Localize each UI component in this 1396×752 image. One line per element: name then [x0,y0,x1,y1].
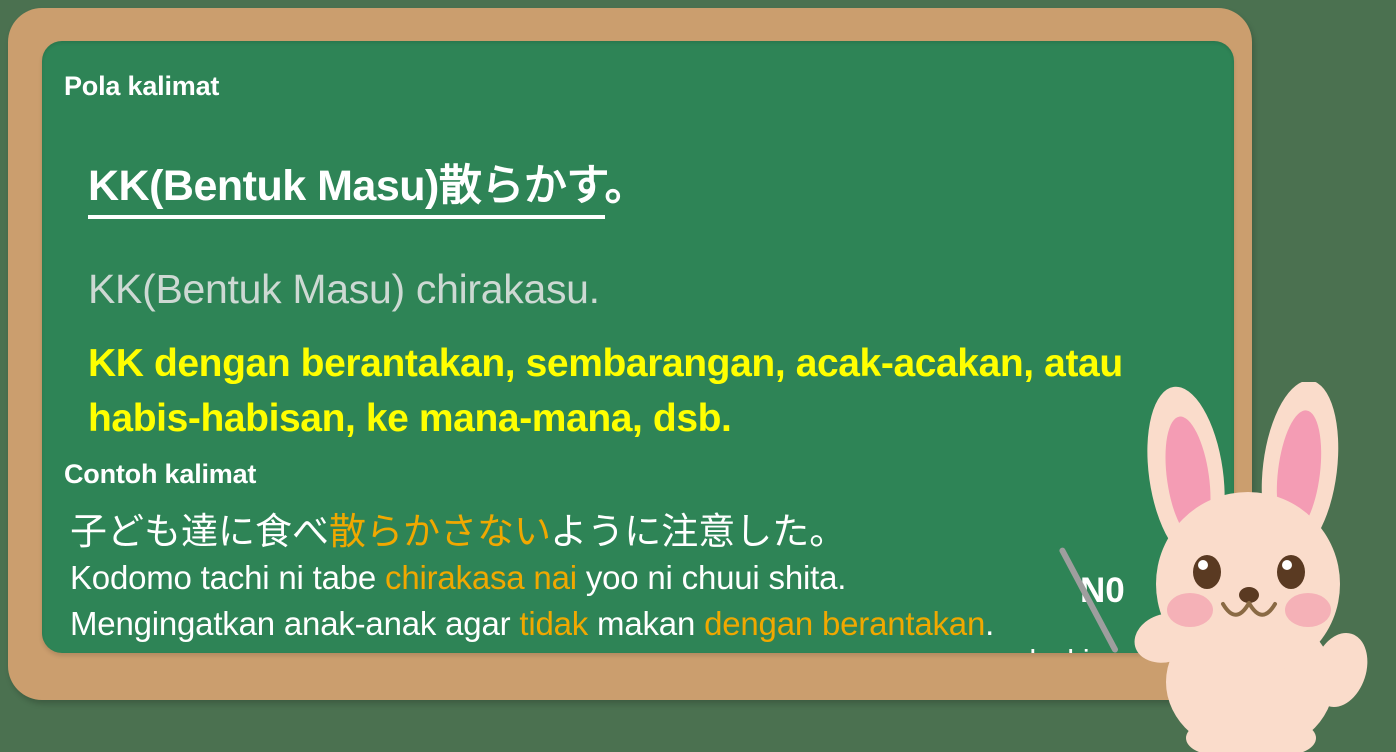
example-jp-highlight: 散らかさない [329,511,550,552]
pattern-romaji-text: KK(Bentuk Masu) chirakasu. [88,266,600,313]
example-section-label: Contoh kalimat [64,459,256,490]
example-japanese-sentence: 子ども達に食べ散らかさないように注意した。 [70,501,846,555]
blackboard-surface: Pola kalimat KK(Bentuk Masu)散らかす。 KK(Ben… [42,41,1234,653]
example-romaji-before: Kodomo tachi ni tabe [70,559,385,596]
pattern-main-text: KK(Bentuk Masu)散らかす。 [88,151,647,213]
pattern-main-underlined: KK(Bentuk Masu)散らかす [88,162,605,219]
pattern-section-label: Pola kalimat [64,71,219,102]
example-id-highlight1: tidak [519,605,588,642]
example-indonesian-sentence: Mengingatkan anak-anak agar tidak makan … [70,605,994,643]
example-id-part1: Mengingatkan anak-anak agar [70,605,519,642]
rabbit-mascot-icon [1108,382,1396,752]
example-romaji-sentence: Kodomo tachi ni tabe chirakasa nai yoo n… [70,559,846,597]
pattern-meaning-text: KK dengan berantakan, sembarangan, acak-… [88,336,1223,447]
example-romaji-after: yoo ni chuui shita. [577,559,846,596]
example-id-part2: makan [588,605,704,642]
example-jp-after: ように注意した。 [550,511,846,552]
example-jp-before: 子ども達に食べ [70,511,329,552]
pattern-main-tail: 。 [605,162,648,210]
example-id-part3: . [985,605,994,642]
example-romaji-highlight: chirakasa nai [385,559,577,596]
blackboard-frame: Pola kalimat KK(Bentuk Masu)散らかす。 KK(Ben… [8,8,1252,700]
example-id-highlight2: dengan berantakan [704,605,985,642]
